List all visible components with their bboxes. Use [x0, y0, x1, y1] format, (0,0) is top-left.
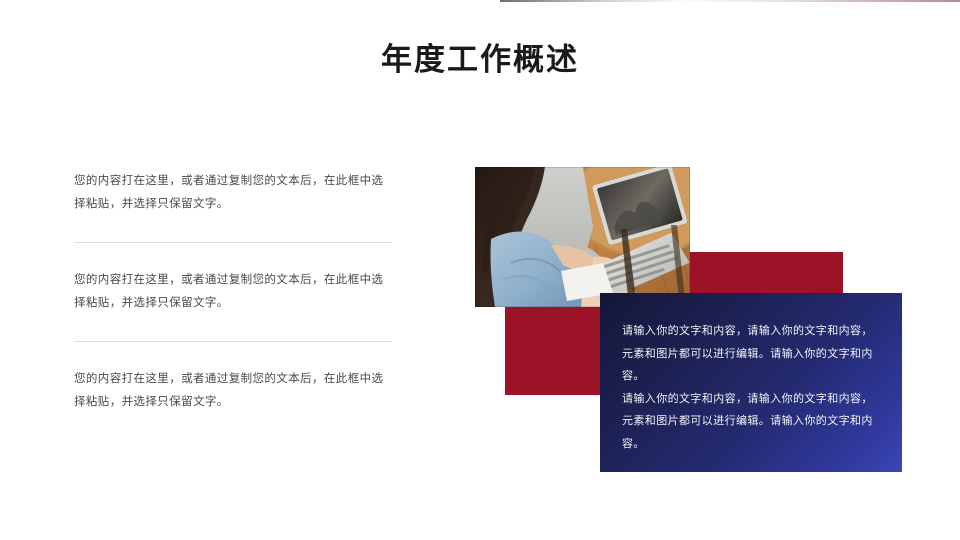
left-divider-2: [74, 341, 392, 342]
blue-paragraph-1: 请输入你的文字和内容，请输入你的文字和内容，元素和图片都可以进行编辑。请输入你的…: [622, 320, 876, 388]
blue-content-box: 请输入你的文字和内容，请输入你的文字和内容，元素和图片都可以进行编辑。请输入你的…: [600, 293, 902, 472]
left-divider-1: [74, 242, 392, 243]
left-paragraph-1: 您的内容打在这里，或者通过复制您的文本后，在此框中选择粘贴，并选择只保留文字。: [74, 170, 394, 216]
left-paragraph-2: 您的内容打在这里，或者通过复制您的文本后，在此框中选择粘贴，并选择只保留文字。: [74, 269, 394, 315]
photo-illustration: [475, 167, 690, 307]
slide-canvas: 年度工作概述 您的内容打在这里，或者通过复制您的文本后，在此框中选择粘贴，并选择…: [0, 0, 960, 540]
left-text-column: 您的内容打在这里，或者通过复制您的文本后，在此框中选择粘贴，并选择只保留文字。 …: [74, 170, 394, 414]
woman-with-laptop-photo: [475, 167, 690, 307]
left-paragraph-3: 您的内容打在这里，或者通过复制您的文本后，在此框中选择粘贴，并选择只保留文字。: [74, 368, 394, 414]
page-title: 年度工作概述: [0, 34, 960, 79]
top-edge-hairline: [500, 0, 960, 2]
blue-paragraph-2: 请输入你的文字和内容，请输入你的文字和内容，元素和图片都可以进行编辑。请输入你的…: [622, 388, 876, 456]
